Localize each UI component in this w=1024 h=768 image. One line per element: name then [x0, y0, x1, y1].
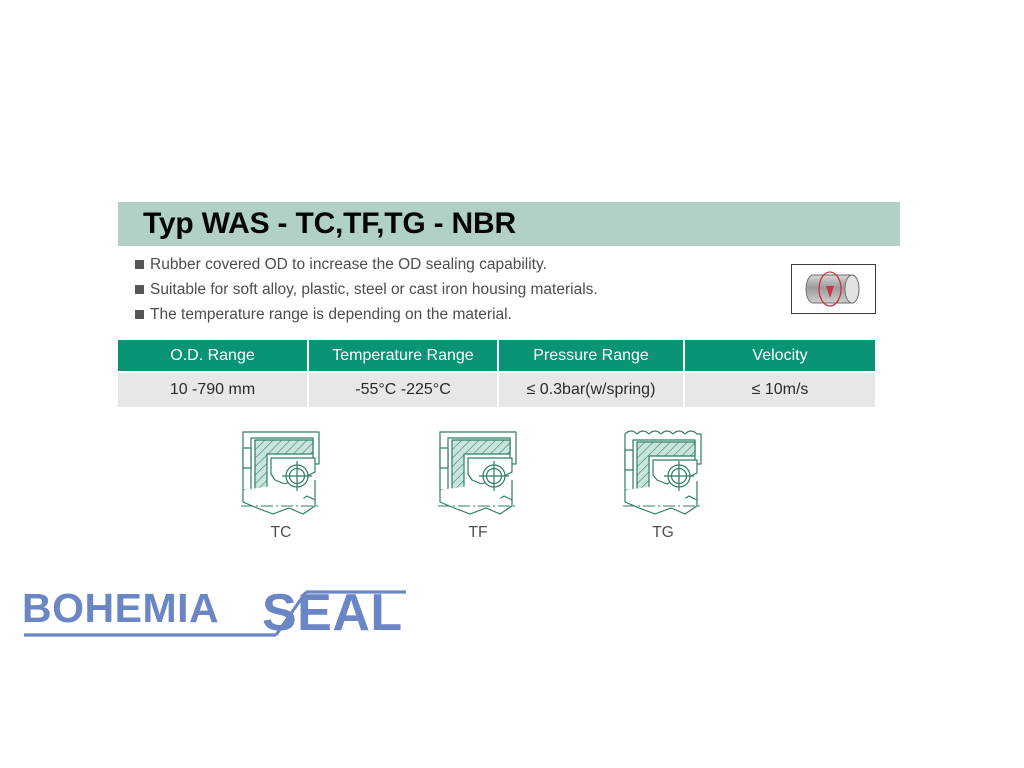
- square-bullet-icon: [135, 310, 144, 319]
- diagram-label-tg: TG: [588, 524, 738, 542]
- seal-diagram-tg: TG: [588, 418, 738, 542]
- logo-svg: BOHEMIA SEAL: [14, 578, 414, 648]
- title-band: Typ WAS - TC,TF,TG - NBR: [118, 202, 900, 246]
- seal-diagram-tf: TF: [403, 418, 553, 542]
- feature-text: The temperature range is depending on th…: [150, 305, 512, 325]
- feature-text: Rubber covered OD to increase the OD sea…: [150, 255, 547, 275]
- diagram-label-tf: TF: [403, 524, 553, 542]
- bohemia-seal-logo: BOHEMIA SEAL: [14, 578, 414, 648]
- cell-temperature-range: -55°C -225°C: [309, 371, 499, 407]
- cell-od-range: 10 -790 mm: [118, 371, 309, 407]
- seal-cross-section-tc-icon: [227, 418, 335, 522]
- column-header-od-range: O.D. Range: [118, 340, 309, 371]
- logo-primary-text: BOHEMIA: [22, 585, 219, 631]
- seal-cross-section-tf-icon: [424, 418, 532, 522]
- table-header-row: O.D. Range Temperature Range Pressure Ra…: [118, 340, 875, 371]
- cell-pressure-range: ≤ 0.3bar(w/spring): [499, 371, 685, 407]
- column-header-temperature-range: Temperature Range: [309, 340, 499, 371]
- rotating-shaft-icon: [791, 264, 876, 314]
- feature-list: Rubber covered OD to increase the OD sea…: [135, 255, 755, 330]
- list-item: Rubber covered OD to increase the OD sea…: [135, 255, 755, 277]
- seal-diagram-tc: TC: [206, 418, 356, 542]
- seal-cross-section-tg-icon: [609, 418, 717, 522]
- feature-text: Suitable for soft alloy, plastic, steel …: [150, 280, 598, 300]
- column-header-velocity: Velocity: [685, 340, 875, 371]
- square-bullet-icon: [135, 285, 144, 294]
- cell-velocity: ≤ 10m/s: [685, 371, 875, 407]
- seal-diagram-group: TC TF: [118, 418, 878, 553]
- table-row: 10 -790 mm -55°C -225°C ≤ 0.3bar(w/sprin…: [118, 371, 875, 407]
- page-title: Typ WAS - TC,TF,TG - NBR: [118, 207, 516, 241]
- rotating-shaft-svg: [792, 265, 875, 313]
- column-header-pressure-range: Pressure Range: [499, 340, 685, 371]
- list-item: Suitable for soft alloy, plastic, steel …: [135, 280, 755, 302]
- list-item: The temperature range is depending on th…: [135, 305, 755, 327]
- square-bullet-icon: [135, 260, 144, 269]
- specification-table: O.D. Range Temperature Range Pressure Ra…: [118, 340, 875, 407]
- diagram-label-tc: TC: [206, 524, 356, 542]
